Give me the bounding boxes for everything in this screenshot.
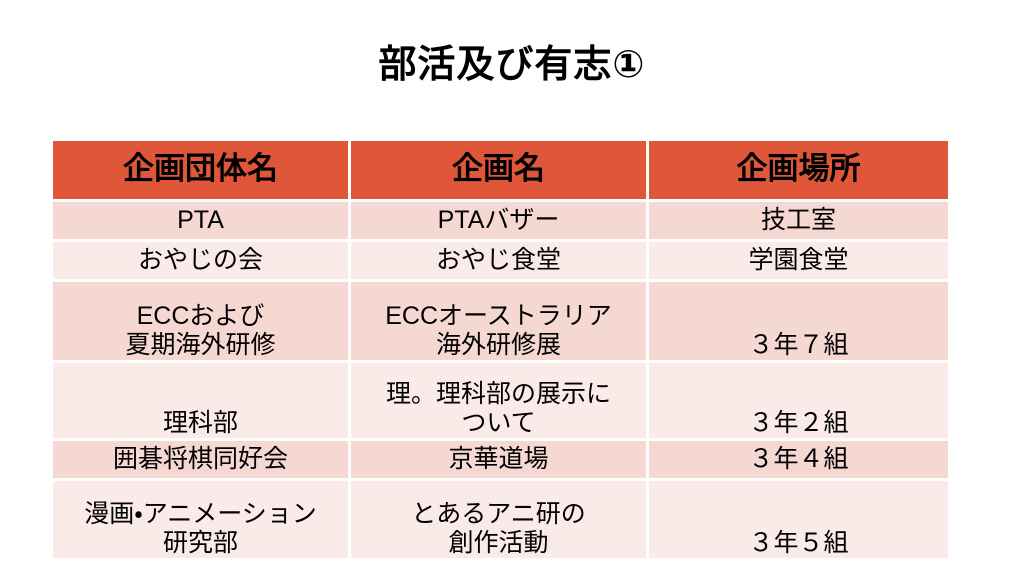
cell-text-line: ついて (357, 409, 640, 438)
cell-text-line: ECCオーストラリア (357, 302, 640, 331)
cell-text-line: 理科部 (59, 409, 342, 438)
table-body: PTA PTAバザー 技工室 おやじの会 おやじ食堂 (53, 202, 948, 561)
cell-text-line: おやじ食堂 (357, 246, 640, 275)
cell-text-line: ECCおよび (59, 302, 342, 331)
cell-text-line: 研究部 (59, 529, 342, 558)
cell-group-name: ECCおよび 夏期海外研修 (53, 282, 348, 363)
cell-text-line: ３年７組 (655, 331, 942, 360)
page-title: 部活及び有志① (0, 45, 1024, 87)
cell-text-line: PTA (59, 206, 342, 235)
cell-plan-name: おやじ食堂 (348, 242, 646, 282)
cell-plan-place: ３年４組 (646, 441, 948, 481)
cell-plan-place: 学園食堂 (646, 242, 948, 282)
cell-plan-place: ３年２組 (646, 363, 948, 441)
cell-text-line: 海外研修展 (357, 331, 640, 360)
cell-plan-name: とあるアニ研の 創作活動 (348, 481, 646, 561)
cell-text-line: とあるアニ研の (357, 500, 640, 529)
cell-text-line: 創作活動 (357, 529, 640, 558)
cell-plan-name: 京華道場 (348, 441, 646, 481)
table-header-row: 企画団体名 企画名 企画場所 (53, 141, 948, 202)
cell-plan-place: ３年５組 (646, 481, 948, 561)
table-row: 理科部 理。理科部の展示に ついて ３年２組 (53, 363, 948, 441)
cell-group-name: 囲碁将棋同好会 (53, 441, 348, 481)
cell-text-line: おやじの会 (59, 246, 342, 275)
cell-plan-name: PTAバザー (348, 202, 646, 242)
cell-text-line: 学園食堂 (655, 246, 942, 275)
plan-table-container: 企画団体名 企画名 企画場所 PTA PTAバザー 技工室 (53, 141, 948, 561)
table-row: 漫画・アニメーション 研究部 とあるアニ研の 創作活動 ３年５組 (53, 481, 948, 561)
table-row: ECCおよび 夏期海外研修 ECCオーストラリア 海外研修展 ３年７組 (53, 282, 948, 363)
table-header: 企画団体名 企画名 企画場所 (53, 141, 948, 202)
cell-text-line: 囲碁将棋同好会 (59, 445, 342, 474)
cell-plan-name: 理。理科部の展示に ついて (348, 363, 646, 441)
cell-group-name: おやじの会 (53, 242, 348, 282)
column-header-group-name: 企画団体名 (53, 141, 348, 202)
cell-text-line: 夏期海外研修 (59, 331, 342, 360)
slide-canvas: 部活及び有志① 企画団体名 企画名 企画場所 PTA (0, 0, 1024, 576)
cell-group-name: 理科部 (53, 363, 348, 441)
cell-text-line: ３年５組 (655, 529, 942, 558)
cell-text-line: 漫画・アニメーション (59, 500, 342, 529)
cell-plan-place: ３年７組 (646, 282, 948, 363)
table-row: おやじの会 おやじ食堂 学園食堂 (53, 242, 948, 282)
column-header-plan-name: 企画名 (348, 141, 646, 202)
cell-text-line: ３年２組 (655, 409, 942, 438)
cell-plan-name: ECCオーストラリア 海外研修展 (348, 282, 646, 363)
cell-text-line: ３年４組 (655, 445, 942, 474)
cell-text-line: PTAバザー (357, 206, 640, 235)
table-row: PTA PTAバザー 技工室 (53, 202, 948, 242)
column-header-plan-place: 企画場所 (646, 141, 948, 202)
cell-text-line: 技工室 (655, 206, 942, 235)
cell-group-name: PTA (53, 202, 348, 242)
cell-text-line: 京華道場 (357, 445, 640, 474)
table-row: 囲碁将棋同好会 京華道場 ３年４組 (53, 441, 948, 481)
cell-plan-place: 技工室 (646, 202, 948, 242)
plan-table: 企画団体名 企画名 企画場所 PTA PTAバザー 技工室 (53, 141, 948, 561)
cell-group-name: 漫画・アニメーション 研究部 (53, 481, 348, 561)
cell-text-line: 理。理科部の展示に (357, 380, 640, 409)
